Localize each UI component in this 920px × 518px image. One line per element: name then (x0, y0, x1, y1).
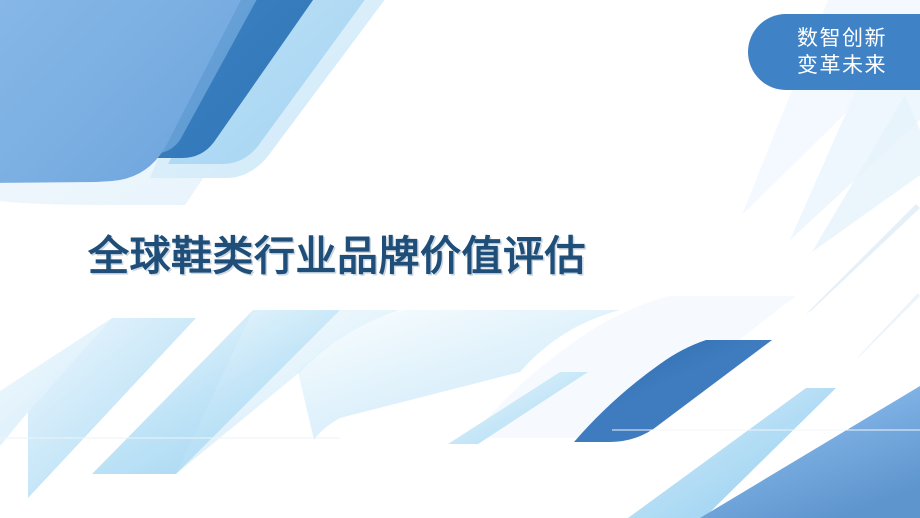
slogan-line-2: 变革未来 (797, 52, 887, 79)
title-block: 全球鞋类行业品牌价值评估 (88, 232, 788, 280)
page-title: 全球鞋类行业品牌价值评估 (88, 232, 788, 280)
slide-canvas: 数智创新 变革未来 全球鞋类行业品牌价值评估 (0, 0, 920, 518)
slogan-badge: 数智创新 变革未来 (748, 14, 920, 90)
hairline-right-2 (856, 293, 920, 359)
hairline-right-1 (806, 204, 920, 314)
slogan-line-1: 数智创新 (797, 25, 887, 52)
